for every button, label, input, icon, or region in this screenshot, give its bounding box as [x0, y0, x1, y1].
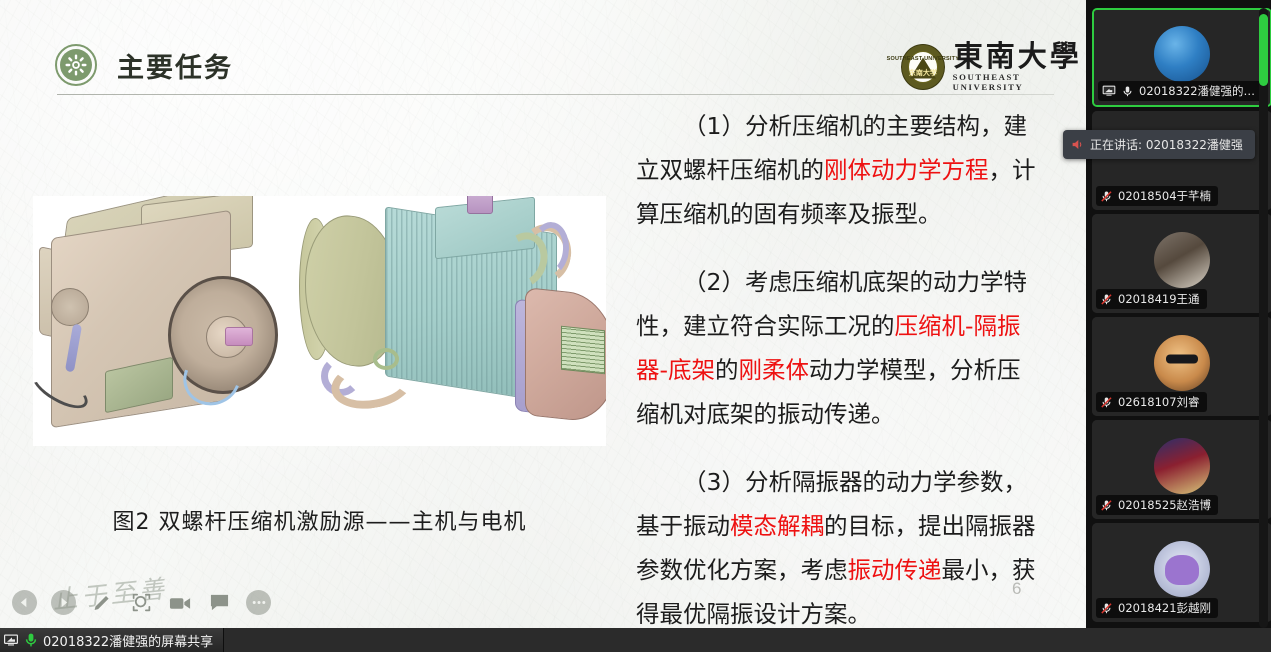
highlighted-text: 模态解耦: [730, 512, 824, 540]
task-paragraph-2: （2）考虑压缩机底架的动力学特性，建立符合实际工况的压缩机-隔振器-底架的刚柔体…: [636, 260, 1036, 436]
avatar: [1154, 335, 1210, 391]
presenter-toolbar[interactable]: [12, 590, 271, 615]
microphone-icon: [1121, 85, 1134, 98]
seal-inner-text: 东南大学: [909, 68, 937, 78]
body-text-run: 的: [715, 356, 739, 384]
microphone-muted-icon: [1100, 190, 1113, 203]
page-title: 主要任务: [117, 46, 233, 85]
university-seal-icon: SOUTHEAST UNIVERSITY 东南大学: [901, 44, 945, 90]
scrollbar-thumb[interactable]: [1259, 14, 1268, 86]
speaking-tooltip: 正在讲话: 02018322潘健强: [1063, 130, 1255, 159]
participant-tile[interactable]: 02018504于芊楠: [1092, 111, 1271, 210]
participant-name-chip: 02018322潘健强的屏幕...: [1098, 81, 1266, 101]
figure-caption: 图2 双螺杆压缩机激励源——主机与电机: [33, 504, 606, 536]
university-name-cn: 東南大學: [954, 42, 1086, 71]
taskbar-empty-area: [224, 628, 1271, 652]
chevron-right-icon[interactable]: [51, 590, 76, 615]
participant-rail[interactable]: 02018322潘健强的屏幕...02018504于芊楠02018419王通02…: [1086, 0, 1271, 628]
screen: 主要任务 SOUTHEAST UNIVERSITY 东南大学 東南大學 SOUT…: [0, 0, 1271, 652]
magnifier-icon[interactable]: [129, 590, 154, 615]
participant-rail-scrollbar[interactable]: [1259, 8, 1268, 628]
microphone-muted-icon: [1100, 293, 1113, 306]
seal-caption: SOUTHEAST UNIVERSITY: [887, 56, 959, 62]
slide-header: 主要任务: [55, 44, 233, 86]
avatar: [1154, 26, 1210, 82]
speaking-tooltip-text: 正在讲话: 02018322潘健强: [1090, 136, 1243, 153]
pen-icon[interactable]: [90, 590, 115, 615]
university-name-en: SOUTHEAST UNIVERSITY: [952, 72, 1086, 92]
participant-name: 02018419王通: [1118, 291, 1200, 307]
university-logo: SOUTHEAST UNIVERSITY 东南大学 東南大學 SOUTHEAST…: [901, 42, 1086, 92]
participant-name-chip: 02618107刘睿: [1096, 392, 1207, 412]
gear-icon: [55, 44, 97, 86]
microphone-icon: [23, 632, 39, 648]
participant-tile[interactable]: 02618107刘睿: [1092, 317, 1271, 416]
participant-name-chip: 02018419王通: [1096, 289, 1207, 309]
slide-body-text: （1）分析压缩机的主要结构，建立双螺杆压缩机的刚体动力学方程，计算压缩机的固有频…: [636, 104, 1036, 628]
participant-tile[interactable]: 02018419王通: [1092, 214, 1271, 313]
participant-name: 02018525赵浩博: [1118, 497, 1211, 513]
participant-list[interactable]: 02018322潘健强的屏幕...02018504于芊楠02018419王通02…: [1092, 8, 1251, 622]
participant-tile[interactable]: 02018421彭越刚: [1092, 523, 1271, 622]
microphone-muted-icon: [1100, 396, 1113, 409]
title-divider: [57, 94, 1054, 95]
highlighted-text: 刚柔体: [738, 356, 809, 384]
taskbar-item-label: 02018322潘健强的屏幕共享: [43, 631, 213, 650]
task-paragraph-3: （3）分析隔振器的动力学参数，基于振动模态解耦的目标，提出隔振器参数优化方案，考…: [636, 460, 1036, 628]
microphone-muted-icon: [1100, 499, 1113, 512]
participant-name: 02618107刘睿: [1118, 394, 1200, 410]
participant-tile[interactable]: 02018322潘健强的屏幕...: [1092, 8, 1271, 107]
task-paragraph-1: （1）分析压缩机的主要结构，建立双螺杆压缩机的刚体动力学方程，计算压缩机的固有频…: [636, 104, 1036, 236]
figure: 图2 双螺杆压缩机激励源——主机与电机: [33, 196, 606, 536]
avatar: [1154, 541, 1210, 597]
highlighted-text: 刚体动力学方程: [824, 156, 989, 184]
taskbar: 02018322潘健强的屏幕共享: [0, 628, 1271, 652]
avatar: [1154, 438, 1210, 494]
participant-name-chip: 02018504于芊楠: [1096, 186, 1218, 206]
participant-name: 02018504于芊楠: [1118, 188, 1211, 204]
participant-name: 02018322潘健强的屏幕...: [1139, 83, 1259, 99]
participant-name-chip: 02018525赵浩博: [1096, 495, 1218, 515]
slide-number: 6: [1012, 579, 1021, 599]
participant-name: 02018421彭越刚: [1118, 600, 1211, 616]
chat-bubble-icon[interactable]: [207, 590, 232, 615]
ellipsis-icon[interactable]: [246, 590, 271, 615]
compressor-cad-image: [33, 196, 606, 446]
chevron-left-icon[interactable]: [12, 590, 37, 615]
camera-icon[interactable]: [168, 590, 193, 615]
screen-share-icon: [1102, 85, 1116, 97]
participant-tile[interactable]: 02018525赵浩博: [1092, 420, 1271, 519]
taskbar-item-screenshare[interactable]: 02018322潘健强的屏幕共享: [0, 628, 224, 652]
speaker-icon: [1071, 138, 1084, 151]
monitor-share-icon: [3, 632, 19, 648]
shared-slide: 主要任务 SOUTHEAST UNIVERSITY 东南大学 東南大學 SOUT…: [0, 0, 1086, 628]
microphone-muted-icon: [1100, 602, 1113, 615]
avatar: [1154, 232, 1210, 288]
participant-name-chip: 02018421彭越刚: [1096, 598, 1218, 618]
highlighted-text: 振动传递: [848, 556, 942, 584]
